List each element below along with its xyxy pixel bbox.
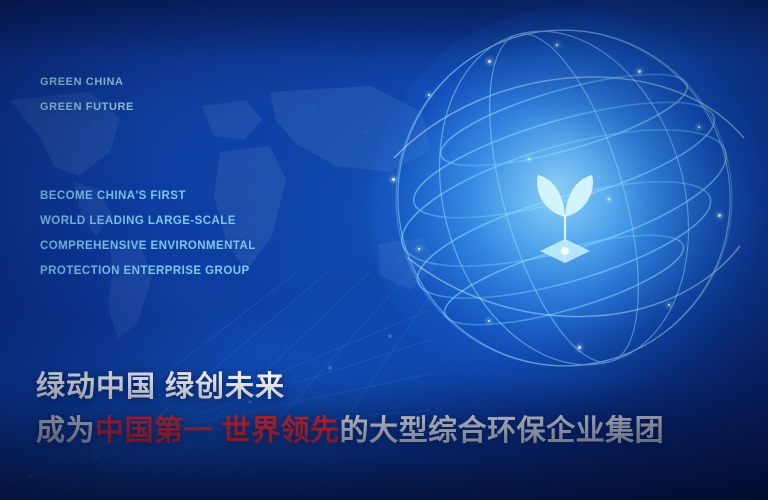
sprout-svg [520, 165, 610, 275]
headline-line-2-suffix: 的大型综合环保企业集团 [340, 415, 665, 447]
headline-line-1: 绿动中国 绿创未来 [36, 366, 664, 408]
headline-block: 绿动中国 绿创未来 成为中国第一 世界领先的大型综合环保企业集团 [36, 366, 664, 452]
top-gradient-overlay [0, 0, 768, 60]
english-body-line-4: PROTECTION ENTERPRISE GROUP [40, 259, 256, 284]
globe-icon [368, 8, 768, 408]
headline-line-2: 成为中国第一 世界领先的大型综合环保企业集团 [36, 410, 664, 452]
globe-glow [368, 8, 768, 408]
headline-line-2-prefix: 成为 [36, 415, 95, 447]
english-body-copy: BECOME CHINA'S FIRST WORLD LEADING LARGE… [40, 184, 256, 284]
english-tagline-line-1: GREEN CHINA [40, 70, 134, 95]
globe-sparkles [368, 8, 768, 408]
english-body-line-1: BECOME CHINA'S FIRST [40, 184, 256, 209]
english-tagline-top: GREEN CHINA GREEN FUTURE [40, 70, 134, 120]
sprout-icon [520, 165, 610, 275]
english-body-line-2: WORLD LEADING LARGE-SCALE [40, 209, 256, 234]
headline-line-2-highlight: 中国第一 世界领先 [95, 415, 340, 447]
english-tagline-line-2: GREEN FUTURE [40, 95, 134, 120]
globe-svg [368, 8, 768, 408]
english-body-line-3: COMPREHENSIVE ENVIRONMENTAL [40, 234, 256, 259]
hero-banner: GREEN CHINA GREEN FUTURE BECOME CHINA'S … [0, 0, 768, 500]
